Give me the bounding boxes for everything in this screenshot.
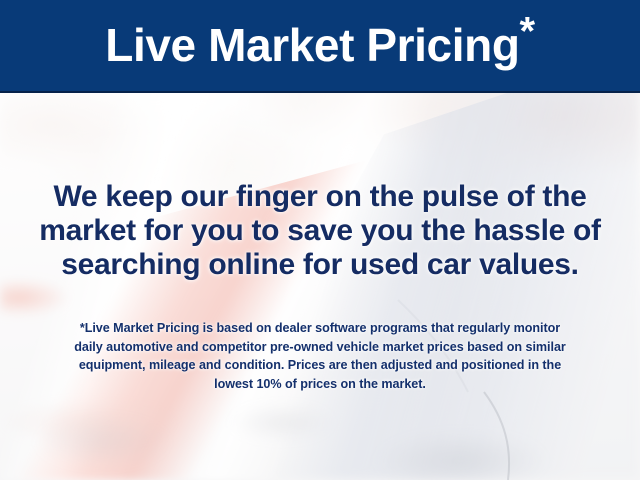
page-title: Live Market Pricing* — [105, 22, 534, 72]
disclaimer-text: *Live Market Pricing is based on dealer … — [36, 319, 604, 393]
disclaimer-line-3: equipment, mileage and condition. Prices… — [36, 356, 604, 375]
page-title-footnote-marker: * — [520, 9, 535, 53]
message-line-3: searching online for used car values. — [0, 248, 640, 282]
header-bar: Live Market Pricing* — [0, 0, 640, 93]
page-title-text: Live Market Pricing — [105, 19, 519, 71]
message-line-2: market for you to save you the hassle of — [0, 214, 640, 248]
disclaimer-line-1: *Live Market Pricing is based on dealer … — [36, 319, 604, 338]
marketing-message: We keep our finger on the pulse of the m… — [0, 180, 640, 282]
live-market-pricing-banner: Live Market Pricing* We keep our finger … — [0, 0, 640, 480]
disclaimer-line-2: daily automotive and competitor pre-owne… — [36, 338, 604, 357]
disclaimer-line-4: lowest 10% of prices on the market. — [36, 375, 604, 394]
message-line-1: We keep our finger on the pulse of the — [0, 180, 640, 214]
